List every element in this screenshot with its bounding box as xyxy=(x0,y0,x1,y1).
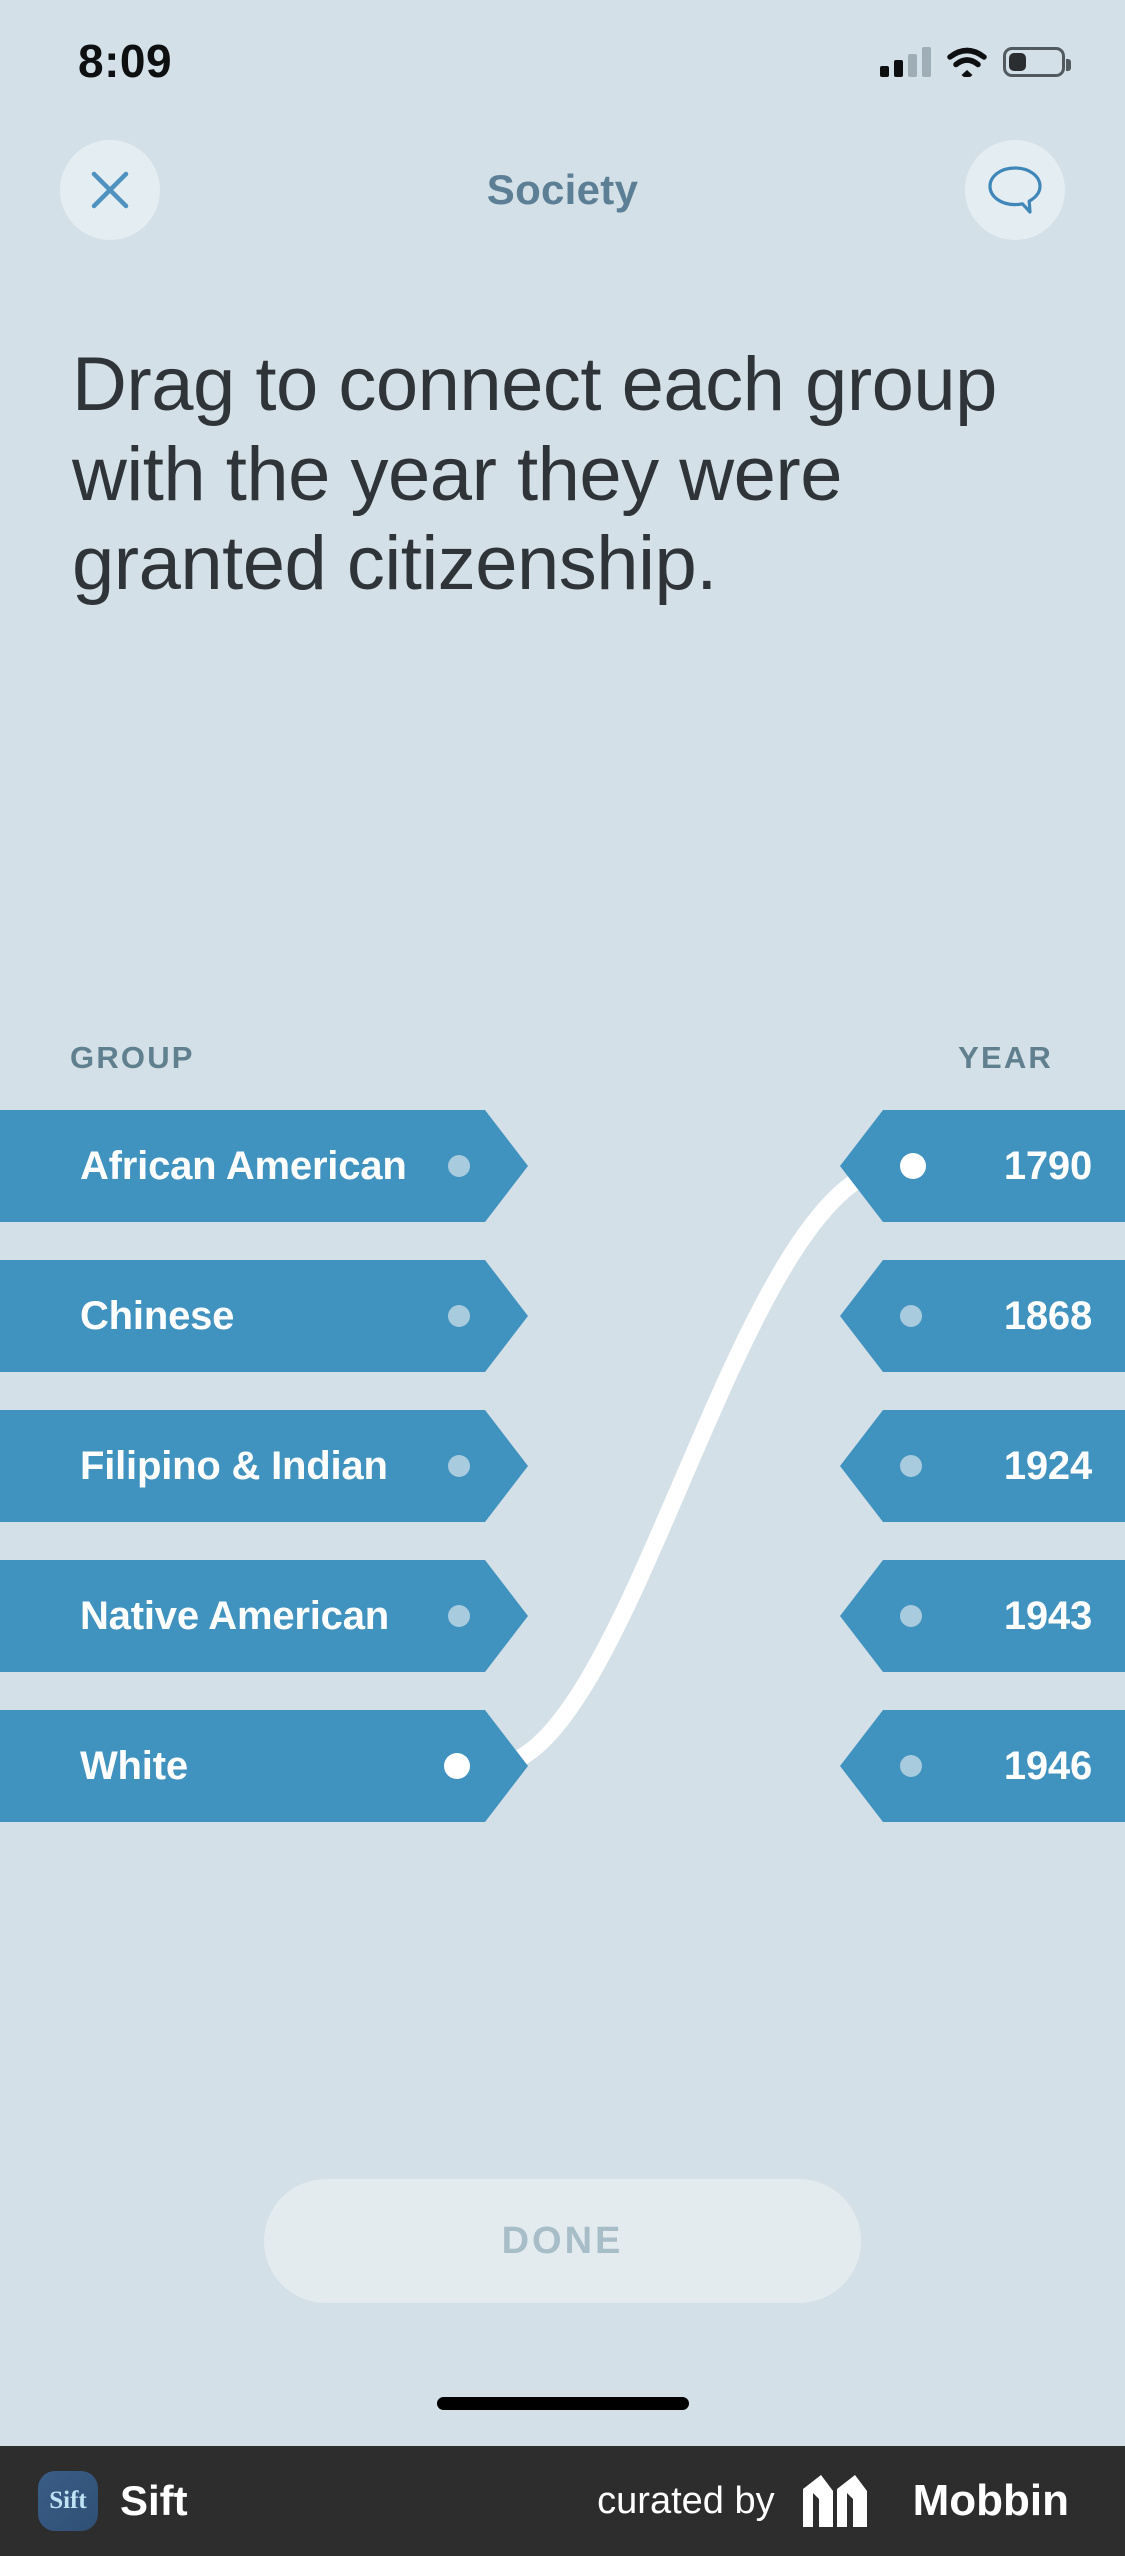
matching-board: African AmericanChineseFilipino & Indian… xyxy=(0,1110,1125,1820)
status-bar: 8:09 xyxy=(0,0,1125,110)
year-pill-connector-dot[interactable] xyxy=(900,1455,922,1477)
year-pill-label: 1868 xyxy=(1004,1294,1092,1339)
group-pill-1[interactable]: Chinese xyxy=(0,1260,528,1372)
sift-app-icon: Sift xyxy=(38,2471,98,2531)
group-pill-label: Filipino & Indian xyxy=(80,1444,388,1489)
prompt-text: Drag to connect each group with the year… xyxy=(72,340,1072,609)
footer-bar: Sift Sift curated by Mobbin xyxy=(0,2446,1125,2556)
page-title: Society xyxy=(0,140,1125,240)
year-pill-connector-dot[interactable] xyxy=(900,1305,922,1327)
connector-line-white-1790 xyxy=(492,1166,900,1766)
group-pill-2[interactable]: Filipino & Indian xyxy=(0,1410,528,1522)
mobbin-brand-label: Mobbin xyxy=(913,2476,1069,2526)
year-pill-connector-dot[interactable] xyxy=(900,1755,922,1777)
curated-by-label: curated by xyxy=(597,2480,774,2523)
group-pill-3[interactable]: Native American xyxy=(0,1560,528,1672)
year-pill-label: 1924 xyxy=(1004,1444,1092,1489)
year-pill-0[interactable]: 1790 xyxy=(840,1110,1125,1222)
year-pill-3[interactable]: 1943 xyxy=(840,1560,1125,1672)
group-pill-0[interactable]: African American xyxy=(0,1110,528,1222)
chat-button[interactable] xyxy=(965,140,1065,240)
group-pill-connector-dot[interactable] xyxy=(448,1305,470,1327)
year-pill-4[interactable]: 1946 xyxy=(840,1710,1125,1822)
year-pill-label: 1943 xyxy=(1004,1594,1092,1639)
year-pill-1[interactable]: 1868 xyxy=(840,1260,1125,1372)
footer-attribution: curated by Mobbin xyxy=(597,2473,1069,2529)
wifi-icon xyxy=(947,47,987,77)
status-time: 8:09 xyxy=(78,34,172,88)
group-pill-label: Chinese xyxy=(80,1294,234,1339)
group-pill-label: White xyxy=(80,1744,188,1789)
home-indicator[interactable] xyxy=(437,2397,689,2410)
chat-bubble-icon xyxy=(986,162,1044,218)
app-name-label: Sift xyxy=(120,2477,188,2525)
group-pill-4[interactable]: White xyxy=(0,1710,528,1822)
group-pill-label: African American xyxy=(80,1144,407,1189)
group-pill-label: Native American xyxy=(80,1594,389,1639)
group-pill-connector-dot[interactable] xyxy=(448,1455,470,1477)
group-pill-connector-dot[interactable] xyxy=(448,1155,470,1177)
cellular-signal-icon xyxy=(880,47,931,77)
group-pill-connector-dot[interactable] xyxy=(444,1753,470,1779)
year-pill-label: 1790 xyxy=(1004,1144,1092,1189)
status-icons xyxy=(880,47,1065,77)
mobbin-logo-icon xyxy=(801,2473,887,2529)
column-header-year: YEAR xyxy=(958,1040,1053,1076)
done-button[interactable]: DONE xyxy=(264,2179,861,2303)
year-pill-2[interactable]: 1924 xyxy=(840,1410,1125,1522)
year-pill-connector-dot[interactable] xyxy=(900,1153,926,1179)
column-header-group: GROUP xyxy=(70,1040,195,1076)
year-pill-label: 1946 xyxy=(1004,1744,1092,1789)
nav-bar: Society xyxy=(0,140,1125,260)
group-pill-connector-dot[interactable] xyxy=(448,1605,470,1627)
year-pill-connector-dot[interactable] xyxy=(900,1605,922,1627)
battery-icon xyxy=(1003,47,1065,77)
